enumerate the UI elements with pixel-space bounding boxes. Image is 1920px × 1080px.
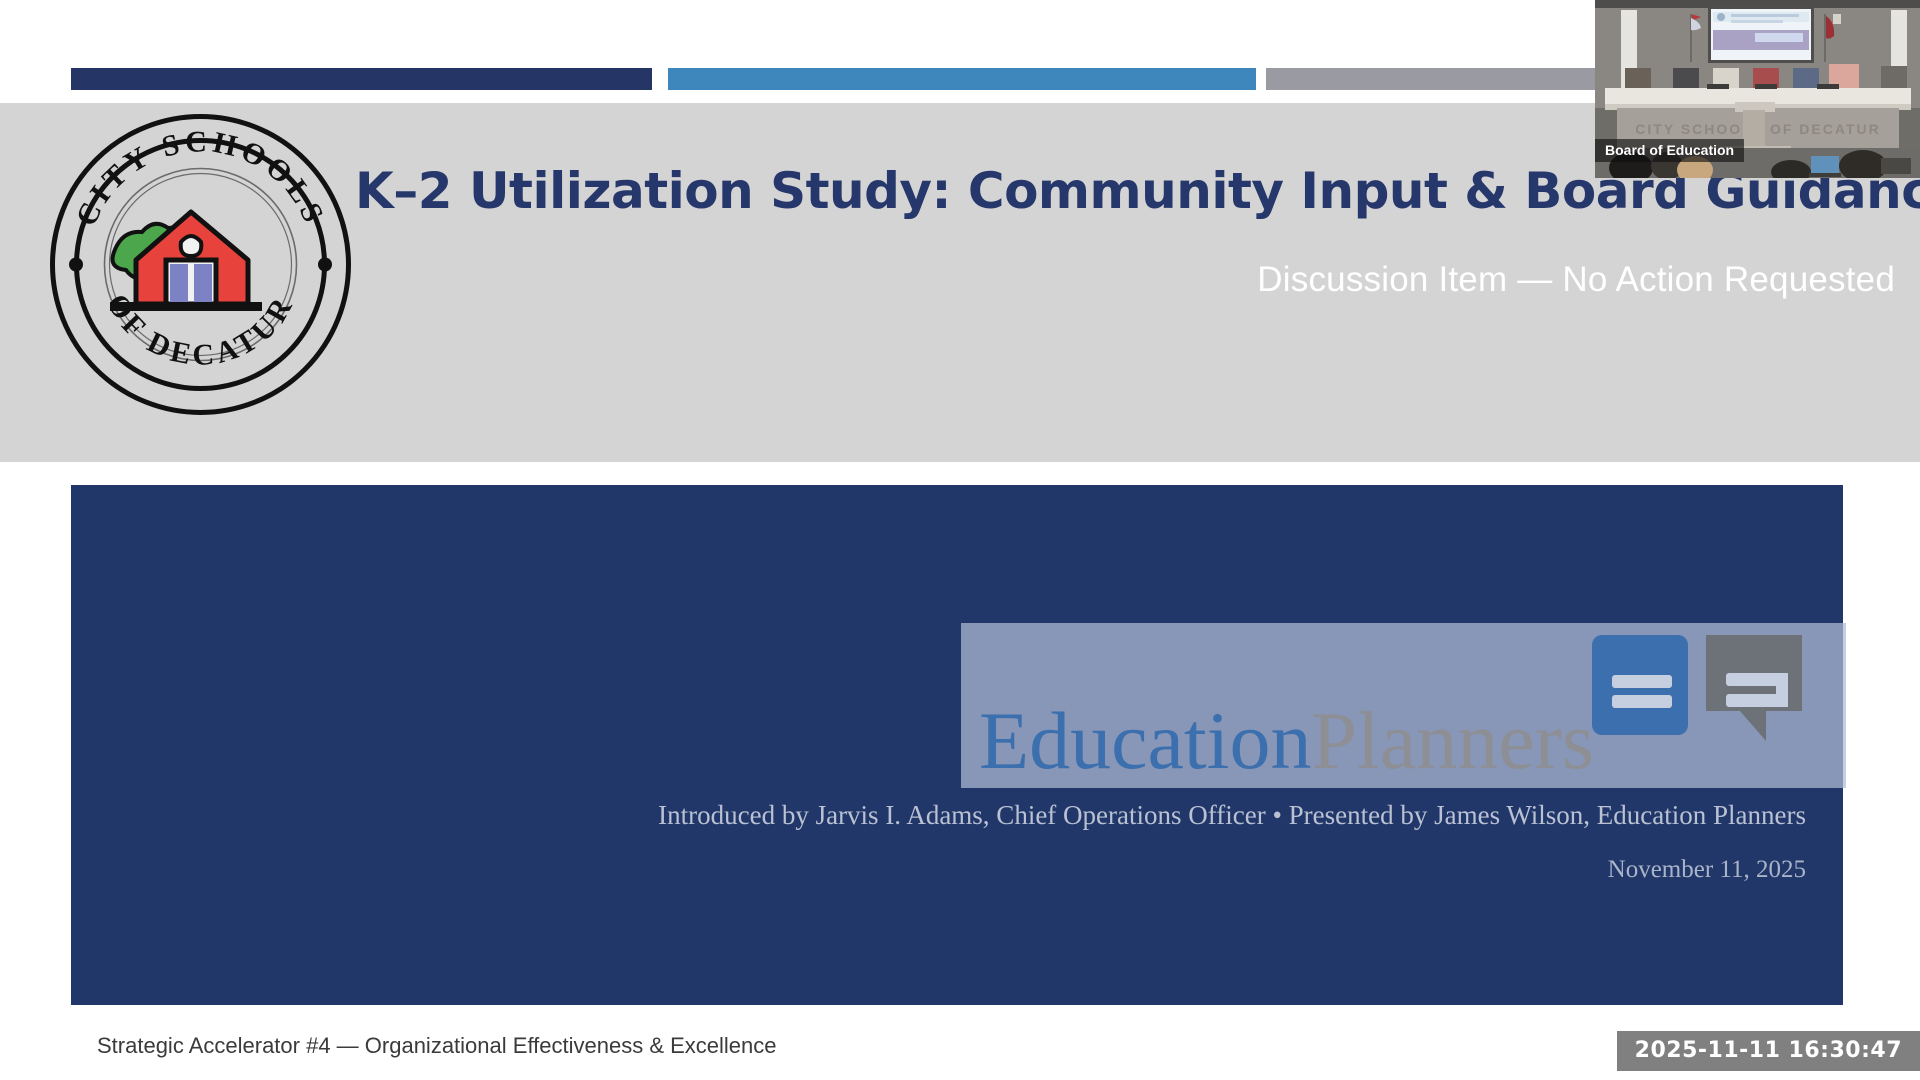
education-planners-logo: EducationPlanners <box>961 623 1846 788</box>
slide-subtitle: Discussion Item — No Action Requested <box>355 260 1895 300</box>
education-planners-wordmark: EducationPlanners <box>979 700 1594 782</box>
wordmark-education: Education <box>979 695 1311 786</box>
webcam-video-tile[interactable]: CITY SCHOOLS OF DECATUR Board of Educati… <box>1595 0 1920 178</box>
accent-bar-gray <box>1266 68 1596 90</box>
slide-date: November 11, 2025 <box>71 856 1806 884</box>
presenter-credits: Introduced by Jarvis I. Adams, Chief Ope… <box>71 800 1806 831</box>
footer-note: Strategic Accelerator #4 — Organizationa… <box>97 1033 777 1059</box>
ep-monogram-icon <box>1590 633 1808 743</box>
accent-bar-navy <box>71 68 652 90</box>
slide-body-panel: EducationPlanners <box>71 485 1843 1005</box>
recording-timestamp-badge: 2025-11-11 16:30:47 <box>1617 1031 1920 1071</box>
city-schools-of-decatur-seal-icon: CITY SCHOOLS OF DECATUR <box>48 112 353 417</box>
title-block: K–2 Utilization Study: Community Input &… <box>355 165 1895 300</box>
wordmark-planners: Planners <box>1311 695 1593 786</box>
webcam-caption: Board of Education <box>1595 139 1744 162</box>
accent-bar-blue <box>668 68 1256 90</box>
